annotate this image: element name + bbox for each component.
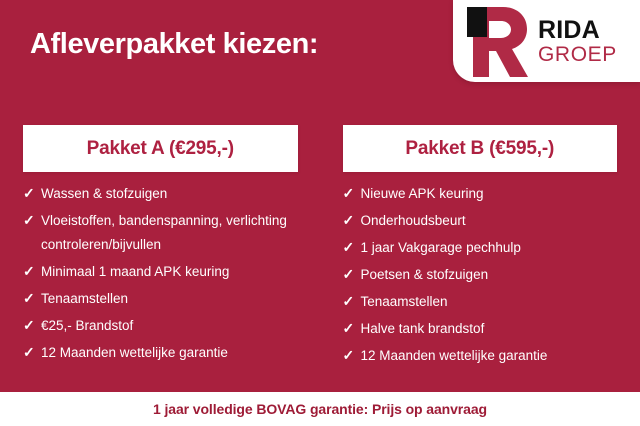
rida-r-logo-icon: [467, 5, 529, 79]
list-item-label: Wassen & stofzuigen: [41, 182, 298, 206]
poster-header: Afleverpakket kiezen: RIDA GROEP: [0, 0, 640, 92]
package-a-title: Pakket A (€295,-): [87, 138, 234, 160]
check-icon: ✓: [343, 182, 361, 206]
check-icon: ✓: [343, 263, 361, 287]
list-item-label: Tenaamstellen: [361, 290, 618, 314]
check-icon: ✓: [343, 236, 361, 260]
brand-logo-wordmark: RIDA GROEP: [538, 18, 617, 65]
brand-name-primary: RIDA: [538, 18, 617, 43]
check-icon: ✓: [23, 209, 41, 233]
list-item-label: Tenaamstellen: [41, 287, 298, 311]
package-b-header: Pakket B (€595,-): [343, 125, 618, 172]
check-icon: ✓: [343, 290, 361, 314]
promo-poster: Afleverpakket kiezen: RIDA GROEP Pakket …: [0, 0, 640, 426]
check-icon: ✓: [23, 287, 41, 311]
package-a-feature-list: ✓ Wassen & stofzuigen ✓ Vloeistoffen, ba…: [23, 182, 298, 364]
footer-text: 1 jaar volledige BOVAG garantie: Prijs o…: [153, 401, 487, 417]
check-icon: ✓: [23, 314, 41, 338]
package-card-a: Pakket A (€295,-) ✓ Wassen & stofzuigen …: [23, 125, 298, 371]
check-icon: ✓: [23, 260, 41, 284]
list-item: ✓ 12 Maanden wettelijke garantie: [23, 341, 298, 365]
footer-bar: 1 jaar volledige BOVAG garantie: Prijs o…: [0, 392, 640, 426]
list-item: ✓ Poetsen & stofzuigen: [343, 263, 618, 287]
check-icon: ✓: [343, 209, 361, 233]
package-card-b: Pakket B (€595,-) ✓ Nieuwe APK keuring ✓…: [343, 125, 618, 371]
page-title: Afleverpakket kiezen:: [30, 22, 450, 66]
list-item-label: 1 jaar Vakgarage pechhulp: [361, 236, 618, 260]
list-item: ✓ 12 Maanden wettelijke garantie: [343, 344, 618, 368]
list-item: ✓ Tenaamstellen: [343, 290, 618, 314]
list-item: ✓ 1 jaar Vakgarage pechhulp: [343, 236, 618, 260]
list-item-label: 12 Maanden wettelijke garantie: [361, 344, 618, 368]
package-b-feature-list: ✓ Nieuwe APK keuring ✓ Onderhoudsbeurt ✓…: [343, 182, 618, 368]
list-item-label: Vloeistoffen, bandenspanning, verlichtin…: [41, 209, 298, 256]
check-icon: ✓: [343, 344, 361, 368]
list-item-label: Halve tank brandstof: [361, 317, 618, 341]
list-item-label: €25,- Brandstof: [41, 314, 298, 338]
list-item: ✓ Onderhoudsbeurt: [343, 209, 618, 233]
list-item: ✓ Tenaamstellen: [23, 287, 298, 311]
brand-logo: RIDA GROEP: [453, 0, 640, 82]
list-item-label: Onderhoudsbeurt: [361, 209, 618, 233]
list-item-label: Nieuwe APK keuring: [361, 182, 618, 206]
check-icon: ✓: [23, 182, 41, 206]
list-item: ✓ Minimaal 1 maand APK keuring: [23, 260, 298, 284]
list-item: ✓ Halve tank brandstof: [343, 317, 618, 341]
list-item: ✓ Wassen & stofzuigen: [23, 182, 298, 206]
package-columns: Pakket A (€295,-) ✓ Wassen & stofzuigen …: [0, 125, 640, 371]
list-item: ✓ Vloeistoffen, bandenspanning, verlicht…: [23, 209, 298, 256]
brand-name-secondary: GROEP: [538, 44, 617, 65]
list-item-label: Minimaal 1 maand APK keuring: [41, 260, 298, 284]
list-item: ✓ Nieuwe APK keuring: [343, 182, 618, 206]
check-icon: ✓: [23, 341, 41, 365]
package-b-title: Pakket B (€595,-): [405, 138, 554, 160]
package-a-header: Pakket A (€295,-): [23, 125, 298, 172]
list-item: ✓ €25,- Brandstof: [23, 314, 298, 338]
list-item-label: Poetsen & stofzuigen: [361, 263, 618, 287]
list-item-label: 12 Maanden wettelijke garantie: [41, 341, 298, 365]
check-icon: ✓: [343, 317, 361, 341]
